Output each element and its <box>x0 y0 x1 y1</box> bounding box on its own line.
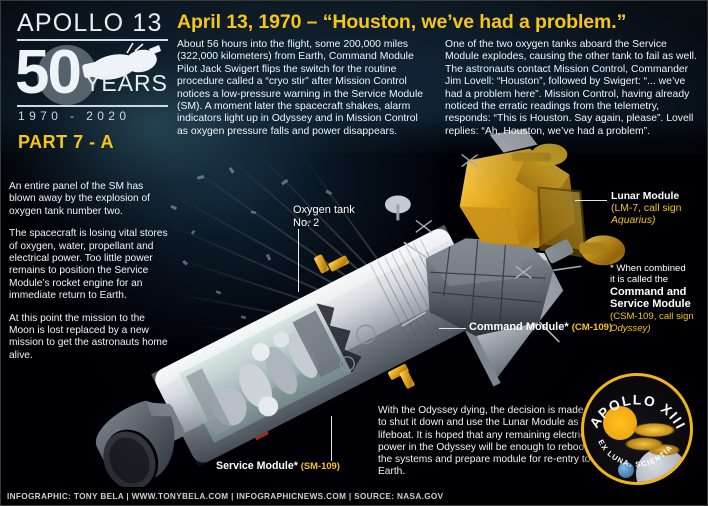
csm-footnote-big1: Command and <box>610 286 708 298</box>
csm-footnote-line2: it is called the <box>610 274 708 285</box>
header-columns: About 56 hours into the flight, some 200… <box>177 39 705 138</box>
callout-lunar-module-sub1: (LM-7, call sign <box>611 203 707 215</box>
asterisk-marker: * <box>564 321 568 333</box>
callout-oxygen-tank-leader-line <box>298 229 299 292</box>
page-title: April 13, 1970 – “Houston, we’ve had a p… <box>177 11 701 34</box>
callout-lunar-module-leader-line <box>575 200 607 201</box>
left-description-column: An entire panel of the SM has blown away… <box>9 181 172 372</box>
callout-lunar-module: Lunar Module (LM-7, call sign Aquarius) <box>611 191 707 228</box>
left-paragraph-2: The spacecraft is losing vital stores of… <box>9 228 172 302</box>
patch-bottom-text: EX LUNA, SCIENTIA <box>596 438 674 469</box>
asterisk-marker-2: * <box>294 460 298 472</box>
logo-fifty-block: 50 YEARS <box>9 41 174 105</box>
csm-footnote: * When combined it is called the Command… <box>610 263 708 335</box>
callout-service-module-label: Service Module <box>216 460 294 472</box>
apollo-13-anniversary-logo: APOLLO 13 50 YEARS 1970 - 2020 PART 7 <box>9 9 174 139</box>
footer-credit-text: INFOGRAPHIC: TONY BELA | WWW.TONYBELA.CO… <box>1 492 443 501</box>
logo-title: APOLLO 13 <box>9 9 174 38</box>
header-paragraph-left: About 56 hours into the flight, some 200… <box>177 39 431 138</box>
header-paragraph-right: One of the two oxygen tanks aboard the S… <box>445 39 699 138</box>
footer-credit-bar: INFOGRAPHIC: TONY BELA | WWW.TONYBELA.CO… <box>1 487 708 505</box>
callout-oxygen-tank-line2: No. 2 <box>293 217 355 230</box>
patch-text-layer: APOLLO XIII EX LUNA, SCIENTIA <box>584 376 690 482</box>
csm-footnote-code2: Odyssey) <box>610 323 708 335</box>
apollo-13-mission-patch: APOLLO XIII EX LUNA, SCIENTIA <box>581 373 693 485</box>
logo-number-50: 50 <box>15 37 80 108</box>
callout-command-module-code: (CM-109) <box>572 322 613 333</box>
callout-lunar-module-label: Lunar Module <box>611 191 707 203</box>
callout-service-module-code: (SM-109) <box>301 460 340 471</box>
bottom-description-paragraph: With the Odyssey dying, the decision is … <box>378 405 594 479</box>
patch-top-text: APOLLO XIII <box>587 392 689 432</box>
callout-command-module-leader-line <box>439 328 466 329</box>
callout-lunar-module-sub2: Aquarius) <box>611 215 707 227</box>
logo-years-word: YEARS <box>85 70 168 97</box>
left-paragraph-3: At this point the mission to the Moon is… <box>9 313 172 363</box>
csm-footnote-big2: Service Module <box>610 298 708 310</box>
logo-part-label: PART 7 - A <box>9 132 174 153</box>
csm-footnote-code1: (CSM-109, call sign <box>610 311 708 323</box>
callout-service-module: Service Module* (SM-109) <box>216 460 340 472</box>
logo-dates: 1970 - 2020 <box>9 109 174 123</box>
infographic-poster: APOLLO 13 50 YEARS 1970 - 2020 PART 7 <box>0 0 708 506</box>
callout-service-module-leader-line <box>331 416 332 461</box>
left-paragraph-1: An entire panel of the SM has blown away… <box>9 181 172 218</box>
callout-command-module: Command Module* (CM-109) <box>469 321 612 333</box>
callout-oxygen-tank: Oxygen tank No. 2 <box>293 204 355 230</box>
callout-command-module-label: Command Module <box>469 321 564 333</box>
callout-oxygen-tank-line1: Oxygen tank <box>293 204 355 217</box>
csm-footnote-line1: * When combined <box>610 263 708 274</box>
